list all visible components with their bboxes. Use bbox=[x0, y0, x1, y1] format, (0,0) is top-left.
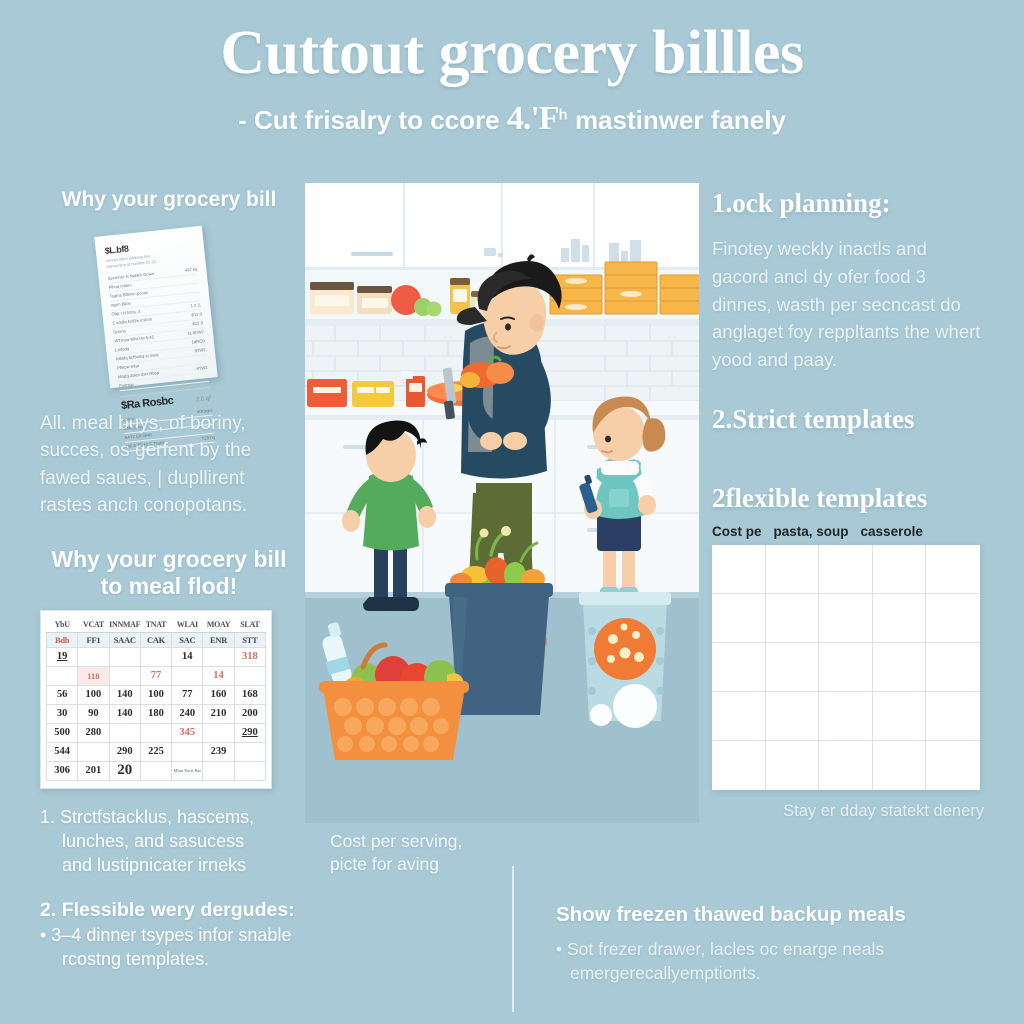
calendar-subheader-cell: Bdh bbox=[47, 632, 78, 647]
calendar-day-header-row: YbUVCATINNMAFTNATWLAIMOAYSLAT bbox=[47, 617, 266, 632]
calendar-row: 1914318 bbox=[47, 647, 266, 666]
calendar-subheader-cell: ENR bbox=[203, 632, 234, 647]
calendar-cell[interactable]: 180 bbox=[140, 704, 171, 723]
calendar-day-header: YbU bbox=[47, 617, 78, 632]
grid-cell[interactable] bbox=[926, 594, 980, 643]
calendar-cell[interactable]: 290 bbox=[234, 723, 265, 742]
calendar-cell[interactable] bbox=[172, 742, 203, 761]
calendar-subheader-row: BdhFF1SAACCAKSACENRSTT bbox=[47, 632, 266, 647]
calendar-cell[interactable]: 290 bbox=[109, 742, 140, 761]
calendar-cell[interactable] bbox=[47, 666, 78, 685]
calendar-day-header: VCAT bbox=[78, 617, 109, 632]
grid-header-pasta-soup: pasta, soup bbox=[774, 524, 849, 539]
calendar-cell[interactable]: 77 bbox=[172, 685, 203, 704]
bottom-right-heading: Show freezen thawed backup meals bbox=[556, 903, 996, 927]
calendar-cell[interactable]: 19 bbox=[47, 647, 78, 666]
subtitle-pre-text: - Cut frisalry to ccore bbox=[238, 105, 500, 135]
calendar-day-header: INNMAF bbox=[109, 617, 140, 632]
calendar-cell[interactable]: 160 bbox=[203, 685, 234, 704]
calendar-body: BdhFF1SAACCAKSACENRSTT191431811877145610… bbox=[47, 632, 266, 780]
receipt-total-value: 2.0 qf bbox=[196, 395, 212, 403]
calendar-cell[interactable] bbox=[109, 723, 140, 742]
calendar-cell[interactable]: 306 bbox=[47, 761, 78, 780]
grocery-receipt: $L.bf8 receipt store address line transa… bbox=[94, 226, 217, 388]
calendar-cell[interactable]: 240 bbox=[172, 704, 203, 723]
receipt-line-label: Lmfsdq bbox=[115, 345, 129, 354]
calendar-cell[interactable] bbox=[109, 666, 140, 685]
receipt-line-value: 497 kq bbox=[184, 265, 197, 274]
left-heading-2: Why your grocery bill to meal flod! bbox=[40, 546, 298, 600]
subtitle-emphasis: 4.'F bbox=[507, 100, 559, 137]
calendar-row: 1187714 bbox=[47, 666, 266, 685]
subtitle-post-text: mastinwer fanely bbox=[575, 105, 786, 135]
receipt-footer-value: 4O0rqbr bbox=[196, 406, 212, 416]
calendar-cell[interactable] bbox=[78, 742, 109, 761]
receipt-line-value: 1 2 2, bbox=[190, 301, 201, 310]
calendar-cell[interactable]: 239 bbox=[203, 742, 234, 761]
calendar-row: 30620120Mhar Enrtt Bar bbox=[47, 761, 266, 780]
grid-cell[interactable] bbox=[873, 741, 927, 790]
grid-cell[interactable] bbox=[819, 741, 873, 790]
right-heading-3: 2flexible templates bbox=[712, 483, 984, 514]
grid-cell[interactable] bbox=[766, 692, 820, 741]
grid-cell[interactable] bbox=[926, 741, 980, 790]
calendar-cell[interactable] bbox=[234, 742, 265, 761]
grid-cell[interactable] bbox=[712, 741, 766, 790]
center-caption: Cost per serving, picte for aving bbox=[330, 830, 520, 877]
calendar-cell[interactable]: 140 bbox=[109, 704, 140, 723]
left-note-line: and lustipnicater irneks bbox=[40, 853, 298, 877]
calendar-subheader-cell: FF1 bbox=[78, 632, 109, 647]
center-caption-line2: picte for aving bbox=[330, 853, 520, 876]
left-note-line: rcostng templates. bbox=[40, 947, 298, 971]
family-cooking-illustration bbox=[305, 183, 699, 823]
calendar-cell[interactable]: 90 bbox=[78, 704, 109, 723]
meal-plan-calendar[interactable]: YbUVCATINNMAFTNATWLAIMOAYSLAT BdhFF1SAAC… bbox=[40, 610, 272, 789]
calendar-cell[interactable]: 30 bbox=[47, 704, 78, 723]
calendar-cell[interactable]: 140 bbox=[109, 685, 140, 704]
left-heading-2-line1: Why your grocery bill bbox=[40, 546, 298, 573]
grid-cell[interactable] bbox=[819, 692, 873, 741]
grid-cell[interactable] bbox=[766, 545, 820, 594]
calendar-cell[interactable]: 210 bbox=[203, 704, 234, 723]
right-body-1: Finotey weckly inactls and gacord ancl d… bbox=[712, 235, 984, 374]
calendar-cell[interactable]: Mhar Enrtt Bar bbox=[172, 761, 203, 780]
receipt-line-value bbox=[198, 274, 199, 282]
receipt-line-label: Frsmsw bbox=[119, 380, 134, 389]
grid-cell[interactable] bbox=[712, 643, 766, 692]
calendar-cell[interactable]: 20 bbox=[109, 761, 140, 780]
receipt-line-value bbox=[206, 355, 207, 363]
calendar-day-header: WLAI bbox=[172, 617, 203, 632]
grid-column-headers: Cost pe pasta, soup casserole bbox=[712, 524, 984, 539]
receipt-illustration-wrap: $L.bf8 receipt store address line transa… bbox=[40, 227, 298, 392]
left-column: Why your grocery bill $L.bf8 receipt sto… bbox=[40, 188, 298, 971]
receipt-line-value: 1dNQ9 bbox=[191, 337, 205, 346]
calendar-cell[interactable] bbox=[140, 647, 171, 666]
calendar-cell[interactable]: 14 bbox=[203, 666, 234, 685]
left-note-line: • 3–4 dinner tsypes infor snable bbox=[40, 923, 298, 947]
grid-cell[interactable] bbox=[926, 545, 980, 594]
calendar-cell[interactable]: 14 bbox=[172, 647, 203, 666]
calendar-cell[interactable]: 100 bbox=[78, 685, 109, 704]
calendar-cell[interactable]: 544 bbox=[47, 742, 78, 761]
grid-cell[interactable] bbox=[766, 643, 820, 692]
calendar-row: 3090140180240210200 bbox=[47, 704, 266, 723]
bottom-right-body: • Sot frezer drawer, lacles oc enarge ne… bbox=[556, 937, 996, 985]
vertical-divider bbox=[512, 866, 514, 1012]
calendar-subheader-cell: SAC bbox=[172, 632, 203, 647]
calendar-cell[interactable]: 201 bbox=[78, 761, 109, 780]
left-note-line: 1. Strctfstacklus, hascems, bbox=[40, 805, 298, 829]
grid-cell[interactable] bbox=[766, 594, 820, 643]
calendar-cell[interactable] bbox=[234, 761, 265, 780]
receipt-line-value: 9TW2 bbox=[194, 346, 206, 355]
calendar-day-header: TNAT bbox=[140, 617, 171, 632]
receipt-line-value: $12.9 bbox=[192, 319, 203, 328]
grid-cell[interactable] bbox=[766, 741, 820, 790]
receipt-line-value bbox=[199, 283, 200, 291]
calendar-cell[interactable]: 345 bbox=[172, 723, 203, 742]
calendar-cell[interactable] bbox=[203, 723, 234, 742]
calendar-cell[interactable]: 77 bbox=[140, 666, 171, 685]
receipt-line-label: Srrons bbox=[113, 327, 126, 336]
calendar-cell[interactable] bbox=[140, 723, 171, 742]
calendar-cell[interactable] bbox=[234, 666, 265, 685]
center-caption-line1: Cost per serving, bbox=[330, 830, 520, 853]
calendar-subheader-cell: SAAC bbox=[109, 632, 140, 647]
right-heading-2: 2.Strict templates bbox=[712, 404, 984, 435]
grid-cell[interactable] bbox=[873, 594, 927, 643]
calendar-cell[interactable]: 100 bbox=[140, 685, 171, 704]
grid-cell[interactable] bbox=[712, 545, 766, 594]
bottom-right-block: Show freezen thawed backup meals • Sot f… bbox=[556, 903, 996, 985]
calendar-cell[interactable] bbox=[140, 761, 171, 780]
grid-cell[interactable] bbox=[926, 643, 980, 692]
calendar-day-header: MOAY bbox=[203, 617, 234, 632]
bottom-right-bullet-line2: emergerecallyemptionts. bbox=[556, 961, 996, 985]
right-column: 1.ock planning: Finotey weckly inactls a… bbox=[712, 188, 984, 821]
calendar-row: 544290225239 bbox=[47, 742, 266, 761]
meal-template-grid[interactable] bbox=[712, 545, 980, 790]
receipt-line-items: Spcmner N Nabkfr Goiwr497 kqFlhnq mhkmTs… bbox=[107, 265, 209, 391]
calendar-cell[interactable] bbox=[203, 761, 234, 780]
calendar-cell[interactable] bbox=[109, 647, 140, 666]
calendar-cell[interactable] bbox=[78, 647, 109, 666]
grid-cell[interactable] bbox=[819, 594, 873, 643]
grid-cell[interactable] bbox=[819, 643, 873, 692]
calendar-cell[interactable]: 280 bbox=[78, 723, 109, 742]
infographic-header: Cuttout grocery billles - Cut frisalry t… bbox=[0, 0, 1024, 165]
grid-caption: Stay er dday statekt denery bbox=[712, 802, 984, 821]
bottom-right-bullet-line1: • Sot frezer drawer, lacles oc enarge ne… bbox=[556, 937, 996, 961]
grid-header-cost: Cost pe bbox=[712, 524, 762, 539]
grid-cell[interactable] bbox=[819, 545, 873, 594]
calendar-subheader-cell: STT bbox=[234, 632, 265, 647]
left-heading-2-line2: to meal flod! bbox=[40, 573, 298, 600]
calendar-cell[interactable]: 168 bbox=[234, 685, 265, 704]
left-note-line: lunches, and sasucess bbox=[40, 829, 298, 853]
subtitle-superscript: h bbox=[559, 106, 568, 123]
calendar-cell[interactable]: 318 bbox=[234, 647, 265, 666]
grid-header-casserole: casserole bbox=[861, 524, 923, 539]
left-note-line: 2. Flessible wery dergudes: bbox=[40, 897, 298, 923]
receipt-footer-label: Somsr bbox=[122, 414, 135, 423]
grid-cell[interactable] bbox=[712, 692, 766, 741]
grid-cell[interactable] bbox=[926, 692, 980, 741]
calendar-day-header: SLAT bbox=[234, 617, 265, 632]
grid-cell[interactable] bbox=[873, 643, 927, 692]
receipt-line-value bbox=[208, 372, 209, 380]
calendar-subheader-cell: CAK bbox=[140, 632, 171, 647]
receipt-footer-value: TZ9 hq bbox=[201, 433, 215, 442]
calendar-cell[interactable]: 118 bbox=[78, 666, 109, 685]
grid-cell[interactable] bbox=[712, 594, 766, 643]
page-subtitle: - Cut frisalry to ccore 4.'Fh mastinwer … bbox=[0, 100, 1024, 138]
left-heading-1: Why your grocery bill bbox=[40, 188, 298, 213]
calendar-cell[interactable]: 225 bbox=[140, 742, 171, 761]
calendar-cell[interactable]: 56 bbox=[47, 685, 78, 704]
calendar-cell[interactable] bbox=[172, 666, 203, 685]
left-notes-list: 1. Strctfstacklus, hascems,lunches, and … bbox=[40, 805, 298, 972]
calendar-cell[interactable]: 200 bbox=[234, 704, 265, 723]
calendar-table: YbUVCATINNMAFTNATWLAIMOAYSLAT BdhFF1SAAC… bbox=[46, 617, 266, 781]
right-heading-1: 1.ock planning: bbox=[712, 188, 984, 219]
calendar-row: 5610014010077160168 bbox=[47, 685, 266, 704]
receipt-line-value: 9TW2 bbox=[196, 364, 208, 373]
calendar-cell[interactable]: 500 bbox=[47, 723, 78, 742]
page-title: Cuttout grocery billles bbox=[0, 18, 1024, 89]
receipt-line-value: $12.9 bbox=[191, 310, 202, 319]
calendar-cell[interactable] bbox=[203, 647, 234, 666]
receipt-line-value: 11 8hW2 bbox=[187, 328, 204, 338]
calendar-row: 500280345290 bbox=[47, 723, 266, 742]
grid-cell[interactable] bbox=[873, 692, 927, 741]
receipt-line-value bbox=[200, 292, 201, 300]
grid-cell[interactable] bbox=[873, 545, 927, 594]
